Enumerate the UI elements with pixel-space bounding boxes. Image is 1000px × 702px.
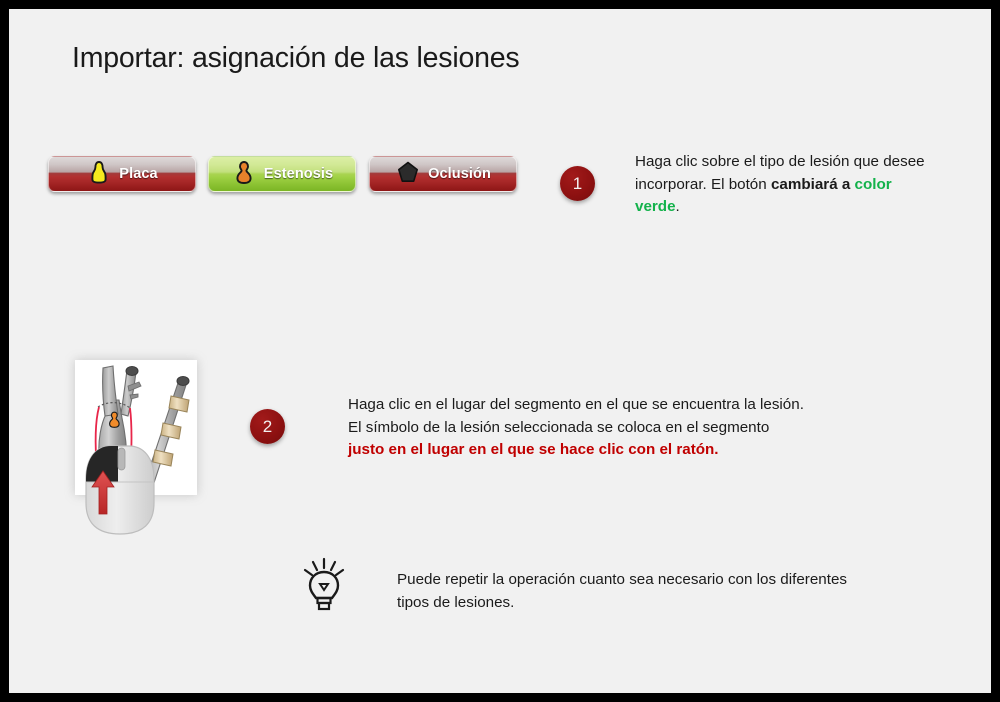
step-1-instruction: Haga clic sobre el tipo de lesión que de… — [635, 151, 935, 219]
step-2-text-highlight-red: justo en el lugar en el que se hace clic… — [348, 441, 719, 458]
step-badge-1: 1 — [560, 166, 595, 201]
slide-frame: Importar: asignación de las lesiones Pla… — [0, 0, 1000, 702]
lesion-button-row: Placa Estenosis Oclusión — [40, 150, 560, 200]
step-badge-number: 1 — [573, 175, 582, 192]
step-badge-number: 2 — [263, 418, 272, 435]
slide-canvas: Importar: asignación de las lesiones Pla… — [9, 9, 991, 693]
lesion-button-label: Oclusión — [428, 166, 491, 182]
step-2-text-part-1: Haga clic en el lugar del segmento en el… — [348, 396, 804, 436]
lesion-button-estenosis[interactable]: Estenosis — [208, 156, 356, 192]
page-title: Importar: asignación de las lesiones — [72, 42, 519, 75]
stenosis-hourglass-icon — [231, 159, 257, 187]
step-1-text-part-4: . — [676, 198, 680, 215]
step-2-instruction: Haga clic en el lugar del segmento en el… — [348, 394, 808, 462]
lesion-button-label: Estenosis — [264, 166, 333, 182]
vessel-illustration — [75, 360, 197, 495]
tip-text: Puede repetir la operación cuanto sea ne… — [397, 569, 847, 615]
step-1-text-part-2: cambiará a — [771, 176, 855, 193]
lightbulb-icon — [301, 557, 347, 613]
occlusion-pentagon-icon — [395, 159, 421, 187]
step-badge-2: 2 — [250, 409, 285, 444]
lesion-button-oclusion[interactable]: Oclusión — [369, 156, 517, 192]
lesion-button-placa[interactable]: Placa — [48, 156, 196, 192]
plaque-dome-icon — [86, 159, 112, 187]
illustration-thumbnail — [66, 351, 216, 551]
lesion-button-label: Placa — [119, 166, 157, 182]
